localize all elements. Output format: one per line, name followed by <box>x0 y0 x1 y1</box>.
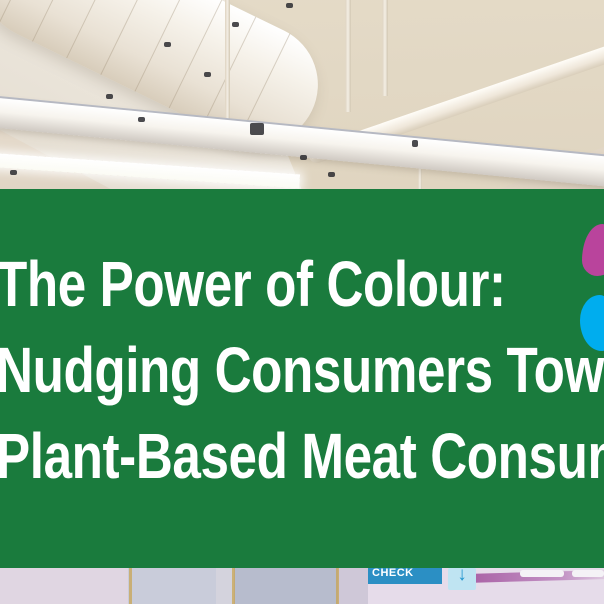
title-slide: The Power of Colour: Nudging Consumers T… <box>0 0 604 604</box>
ceiling-fixture-dot <box>412 140 418 147</box>
ceiling-pipe-vertical-b <box>382 0 388 96</box>
title-block: The Power of Colour: Nudging Consumers T… <box>0 189 604 499</box>
shelf-rail <box>520 570 564 577</box>
ceiling-fixture-dot <box>232 22 239 27</box>
shelf-segment <box>0 568 128 604</box>
store-aisle-photo: CHECK ↓ <box>0 568 604 604</box>
title-line-2: Nudging Consumers Toward <box>0 327 482 413</box>
ceiling-fixture-dot <box>106 94 113 99</box>
ceiling-fixture-dot <box>300 155 307 160</box>
ceiling-fixture-dot <box>286 3 293 8</box>
shelf-edge-trim <box>336 568 339 604</box>
title-line-3: Plant-Based Meat Consumption <box>0 413 482 499</box>
ceiling-fixture-dot <box>10 170 17 175</box>
shelf-edge-trim <box>232 568 235 604</box>
shelf-segment <box>338 568 368 604</box>
ceiling-pipe-vertical-c <box>225 0 230 120</box>
title-line-1: The Power of Colour: <box>0 241 482 327</box>
shelf-edge-trim <box>129 568 132 604</box>
ceiling-fixture-dot <box>204 72 211 77</box>
ceiling-fixture-dot <box>164 42 171 47</box>
ceiling-junction-box <box>250 123 264 135</box>
shelf-rail <box>572 570 604 577</box>
green-title-banner: The Power of Colour: Nudging Consumers T… <box>0 189 604 568</box>
ceiling-pipe-vertical-a <box>345 0 351 112</box>
shelf-segment <box>234 568 338 604</box>
ceiling-photo <box>0 0 604 189</box>
ceiling-fixture-dot <box>138 117 145 122</box>
ceiling-fixture-dot <box>328 172 335 177</box>
down-arrow-icon: ↓ <box>448 568 476 586</box>
aisle-sign-label: CHECK <box>372 568 442 580</box>
shelf-segment <box>128 568 216 604</box>
